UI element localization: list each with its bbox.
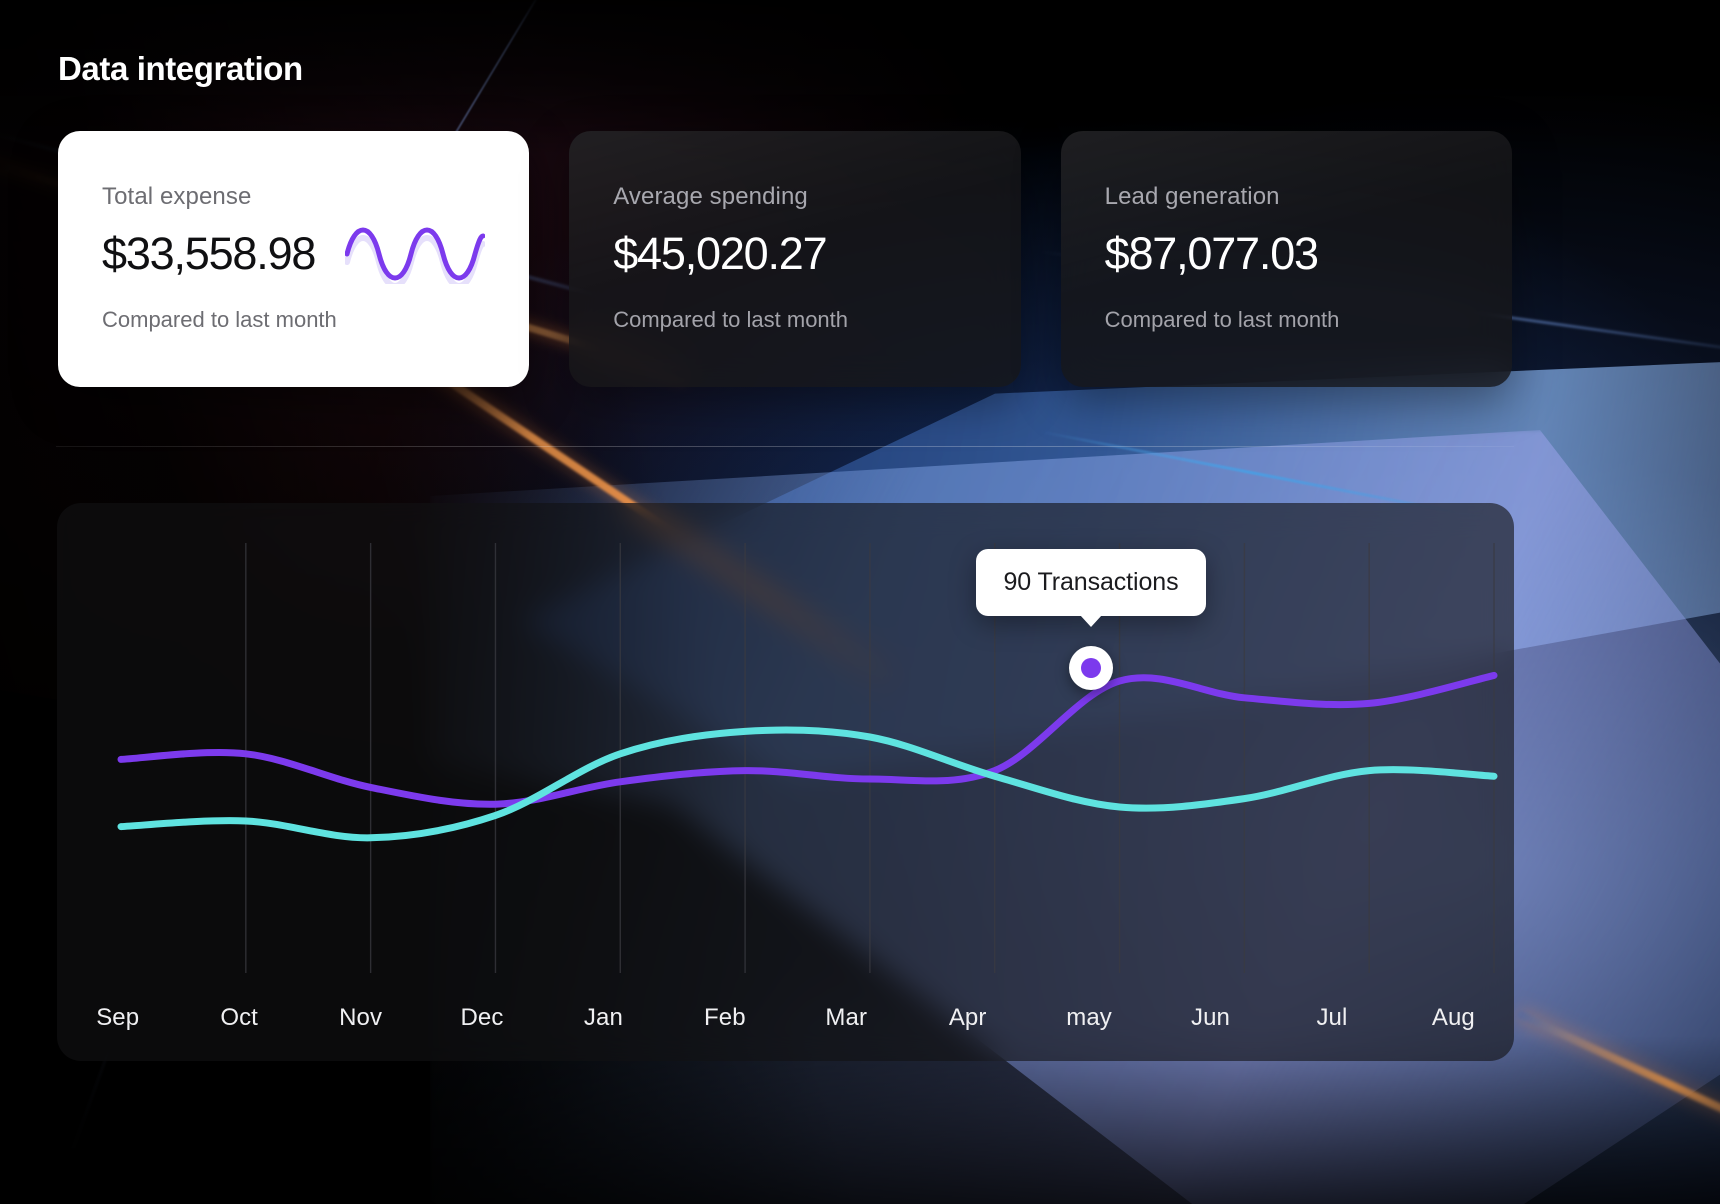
page-title: Data integration (58, 50, 303, 88)
line-chart-svg[interactable] (57, 503, 1514, 973)
chart-x-tick-label: Aug (1393, 1003, 1514, 1033)
chart-plot-area: SepOctNovDecJanFebMarAprmayJunJulAug (57, 503, 1514, 1061)
sine-wave-sparkline-icon (345, 222, 485, 284)
stat-card-average-spending[interactable]: Average spending $45,020.27 Compared to … (569, 131, 1020, 387)
chart-x-tick-label: Jun (1150, 1003, 1271, 1033)
stat-card-lead-generation[interactable]: Lead generation $87,077.03 Compared to l… (1061, 131, 1512, 387)
chart-x-axis: SepOctNovDecJanFebMarAprmayJunJulAug (57, 1003, 1514, 1033)
stat-card-value-row: $33,558.98 (102, 225, 485, 281)
dashboard-screen: Data integration Total expense $33,558.9… (0, 0, 1720, 1204)
chart-series-line (121, 730, 1494, 838)
chart-x-tick-label: Nov (300, 1003, 421, 1033)
chart-tooltip[interactable]: 90 Transactions (976, 549, 1206, 616)
stat-card-value-row: $87,077.03 (1105, 225, 1468, 281)
chart-x-tick-label: Oct (178, 1003, 299, 1033)
chart-x-tick-label: Jan (543, 1003, 664, 1033)
chart-x-tick-label: may (1028, 1003, 1149, 1033)
chart-series-lines (121, 675, 1494, 837)
chart-x-tick-label: Apr (907, 1003, 1028, 1033)
stat-card-subtext: Compared to last month (1105, 307, 1468, 333)
chart-series-line (121, 675, 1494, 804)
stat-card-label: Total expense (102, 183, 485, 211)
stat-card-label: Average spending (613, 183, 976, 211)
chart-x-tick-label: Dec (421, 1003, 542, 1033)
chart-x-tick-label: Sep (57, 1003, 178, 1033)
stat-card-value: $87,077.03 (1105, 231, 1318, 276)
stat-card-total-expense[interactable]: Total expense $33,558.98 Compared to las… (58, 131, 529, 387)
chart-gridlines (246, 543, 1494, 973)
stat-card-label: Lead generation (1105, 183, 1468, 211)
chart-tooltip-label: 90 Transactions (1004, 568, 1179, 597)
stat-card-value: $33,558.98 (102, 231, 315, 276)
stat-card-value: $45,020.27 (613, 231, 826, 276)
stat-card-row: Total expense $33,558.98 Compared to las… (58, 131, 1512, 387)
chart-x-tick-label: Feb (664, 1003, 785, 1033)
stat-card-subtext: Compared to last month (613, 307, 976, 333)
chart-x-tick-label: Jul (1271, 1003, 1392, 1033)
chart-tooltip-tail (1080, 615, 1102, 627)
chart-x-tick-label: Mar (786, 1003, 907, 1033)
stat-card-value-row: $45,020.27 (613, 225, 976, 281)
section-divider (56, 446, 1514, 447)
stat-card-subtext: Compared to last month (102, 307, 485, 333)
transactions-chart-panel: SepOctNovDecJanFebMarAprmayJunJulAug (57, 503, 1514, 1061)
chart-highlight-marker[interactable] (1069, 646, 1113, 690)
